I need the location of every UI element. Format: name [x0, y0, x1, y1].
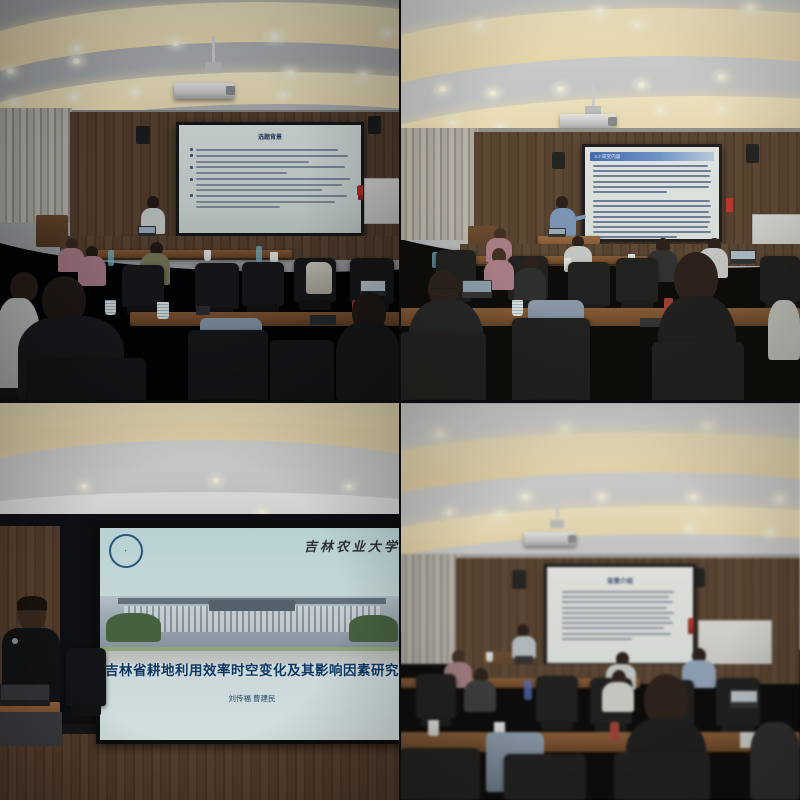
recessed-downlight: [656, 108, 664, 113]
speaker-icon: [368, 116, 381, 134]
projection-screen: ✦ 吉林农业大学 吉林省耕地利用效率时空变化及其影响因素研究 刘传福 曹建民: [100, 528, 400, 740]
av-cart: [0, 712, 62, 746]
recessed-downlight: [432, 430, 447, 438]
slide-title: 背景介绍: [547, 575, 693, 585]
recessed-downlight: [10, 100, 18, 105]
recessed-downlight: [766, 530, 774, 535]
slide-bullet: [190, 166, 352, 169]
recessed-downlight: [688, 494, 699, 500]
recessed-downlight: [267, 32, 282, 40]
paper-cup: [512, 300, 523, 316]
paper-cup: [428, 720, 439, 736]
seminar-room-blurred-wide-shot: 背景介绍: [400, 402, 800, 800]
laptop: [730, 250, 756, 264]
office-chair: [400, 748, 480, 800]
recessed-downlight: [445, 510, 453, 515]
projector-lens: [568, 535, 576, 543]
panel-bottom-left: ✦ 吉林农业大学 吉林省耕地利用效率时空变化及其影响因素研究 刘传福 曹建民: [0, 402, 400, 800]
title-slide-and-presenter: ✦ 吉林农业大学 吉林省耕地利用效率时空变化及其影响因素研究 刘传福 曹建民: [0, 402, 400, 800]
shirt-emblem: [12, 638, 18, 644]
laptop: [138, 226, 156, 236]
recessed-downlight: [285, 70, 296, 76]
recessed-downlight: [718, 106, 726, 111]
recessed-downlight: [716, 74, 727, 80]
curtains: [400, 554, 460, 664]
draped-jacket: [306, 262, 332, 294]
speaker-icon: [512, 570, 526, 589]
recessed-downlight: [700, 422, 715, 430]
recessed-downlight: [474, 22, 485, 28]
curtains: [0, 108, 72, 223]
office-chair: [512, 318, 590, 402]
recessed-downlight: [212, 478, 220, 483]
hair: [17, 596, 47, 611]
recessed-downlight: [70, 95, 78, 100]
projection-screen-frame: 背景介绍: [544, 564, 696, 666]
recessed-downlight: [632, 22, 643, 28]
slide-bullet: [190, 194, 352, 197]
projector-mount-arm: [556, 500, 559, 522]
phone: [196, 306, 210, 315]
recessed-downlight: [358, 72, 369, 78]
office-chair: [504, 754, 586, 800]
projector-icon: [174, 83, 234, 99]
whiteboard-icon: [364, 178, 400, 224]
paper-cup: [105, 300, 116, 315]
audience-torso: [602, 682, 634, 712]
recessed-downlight: [686, 526, 694, 531]
recessed-downlight: [555, 86, 566, 92]
slide-bullet: [190, 178, 352, 181]
drink-can: [610, 722, 619, 740]
recessed-downlight: [5, 68, 16, 74]
audience-torso: [514, 268, 546, 300]
recessed-downlight: [280, 92, 288, 97]
presenter: [512, 624, 536, 668]
recessed-downlight: [170, 40, 181, 46]
slide-authors: 刘传福 曹建民: [100, 693, 400, 704]
fire-extinguisher-icon: [688, 618, 694, 634]
office-chair: [400, 332, 486, 402]
office-chair: [760, 256, 800, 302]
projection-screen: 3.2 研究内容: [585, 147, 719, 239]
panel-top-left: 选题背景: [0, 0, 400, 402]
office-chair: [242, 262, 284, 306]
audience-table: [92, 250, 292, 258]
recessed-downlight: [743, 4, 758, 12]
recessed-downlight: [592, 8, 607, 16]
recessed-downlight: [636, 82, 647, 88]
recessed-downlight: [80, 484, 88, 489]
flag-icon: [726, 198, 733, 212]
water-bottle: [108, 250, 114, 266]
audience-torso: [750, 722, 800, 800]
water-bottle: [256, 246, 262, 262]
slide-bullet: [190, 154, 352, 157]
university-calligraphy: 吉林农业大学: [304, 536, 400, 555]
office-chair: [616, 258, 658, 302]
audience-torso: [768, 300, 800, 360]
speaker-icon: [136, 126, 150, 144]
photo-collage: 选题背景: [0, 0, 800, 800]
projector-mount: [550, 520, 564, 528]
office-chair: [614, 752, 710, 800]
projector-mount-arm: [212, 36, 215, 64]
recessed-downlight: [382, 30, 393, 36]
projection-screen-frame: ✦ 吉林农业大学 吉林省耕地利用效率时空变化及其影响因素研究 刘传福 曹建民: [96, 524, 400, 744]
recessed-downlight: [557, 424, 572, 432]
panel-top-right: 3.2 研究内容: [400, 0, 800, 402]
audience-torso: [464, 680, 496, 712]
audience-torso: [78, 256, 106, 286]
seminar-room-wide-shot: 选题背景: [0, 0, 400, 402]
recessed-downlight: [596, 494, 607, 500]
projection-screen-frame: 3.2 研究内容: [582, 144, 722, 242]
university-logo: ✦: [109, 534, 143, 568]
speaker-icon: [746, 144, 759, 163]
curtains: [400, 128, 478, 240]
recessed-downlight: [345, 484, 353, 489]
office-chair: [652, 342, 744, 402]
paper-cup: [157, 302, 169, 319]
recessed-downlight: [774, 496, 785, 502]
presenter-table: [538, 236, 600, 244]
office-chair: [66, 648, 106, 706]
projector-lens: [608, 117, 617, 126]
tablet: [310, 315, 336, 325]
office-chair: [188, 330, 268, 402]
projection-screen: 背景介绍: [547, 567, 693, 663]
seminar-room-second-presenter: 3.2 研究内容: [400, 0, 800, 402]
projection-screen: 选题背景: [179, 125, 361, 233]
projector-mount-arm: [592, 82, 595, 108]
office-chair: [416, 674, 456, 718]
speaker-icon: [552, 152, 565, 169]
office-chair: [270, 340, 334, 402]
recessed-downlight: [520, 494, 531, 500]
audience-torso: [336, 322, 400, 402]
slide-title: 吉林省耕地利用效率时空变化及其影响因素研究: [100, 659, 400, 679]
eyeglasses-icon: [430, 288, 458, 289]
projector-lens: [226, 86, 235, 95]
laptop: [462, 280, 492, 298]
projector-mount: [205, 62, 221, 72]
tree: [349, 615, 398, 643]
laptop: [548, 228, 566, 237]
paper-cup: [486, 652, 493, 662]
slide-header-bar: 3.2 研究内容: [590, 152, 713, 161]
laptop: [0, 684, 50, 706]
collage-seam-vertical: [399, 0, 401, 800]
laptop: [730, 690, 758, 708]
water-bottle: [524, 680, 532, 700]
recessed-downlight: [71, 58, 82, 64]
office-chair: [28, 358, 146, 402]
panel-bottom-right: 背景介绍: [400, 402, 800, 800]
recessed-downlight: [131, 90, 139, 95]
recessed-downlight: [487, 90, 498, 96]
office-chair: [122, 265, 164, 307]
flag-icon: [357, 186, 363, 195]
office-chair: [536, 676, 578, 722]
office-chair: [195, 263, 239, 309]
projection-screen-frame: 选题背景: [176, 122, 364, 236]
recessed-downlight: [437, 86, 448, 92]
slide-title: 选题背景: [179, 132, 361, 141]
slide-title: 3.2 研究内容: [590, 154, 620, 160]
recessed-downlight: [72, 45, 83, 51]
recessed-downlight: [448, 120, 456, 125]
paper-cup: [204, 250, 211, 261]
slide-bullet: [190, 148, 352, 151]
recessed-downlight: [496, 512, 504, 517]
eyeglasses-icon: [20, 610, 44, 611]
tree: [106, 613, 161, 643]
